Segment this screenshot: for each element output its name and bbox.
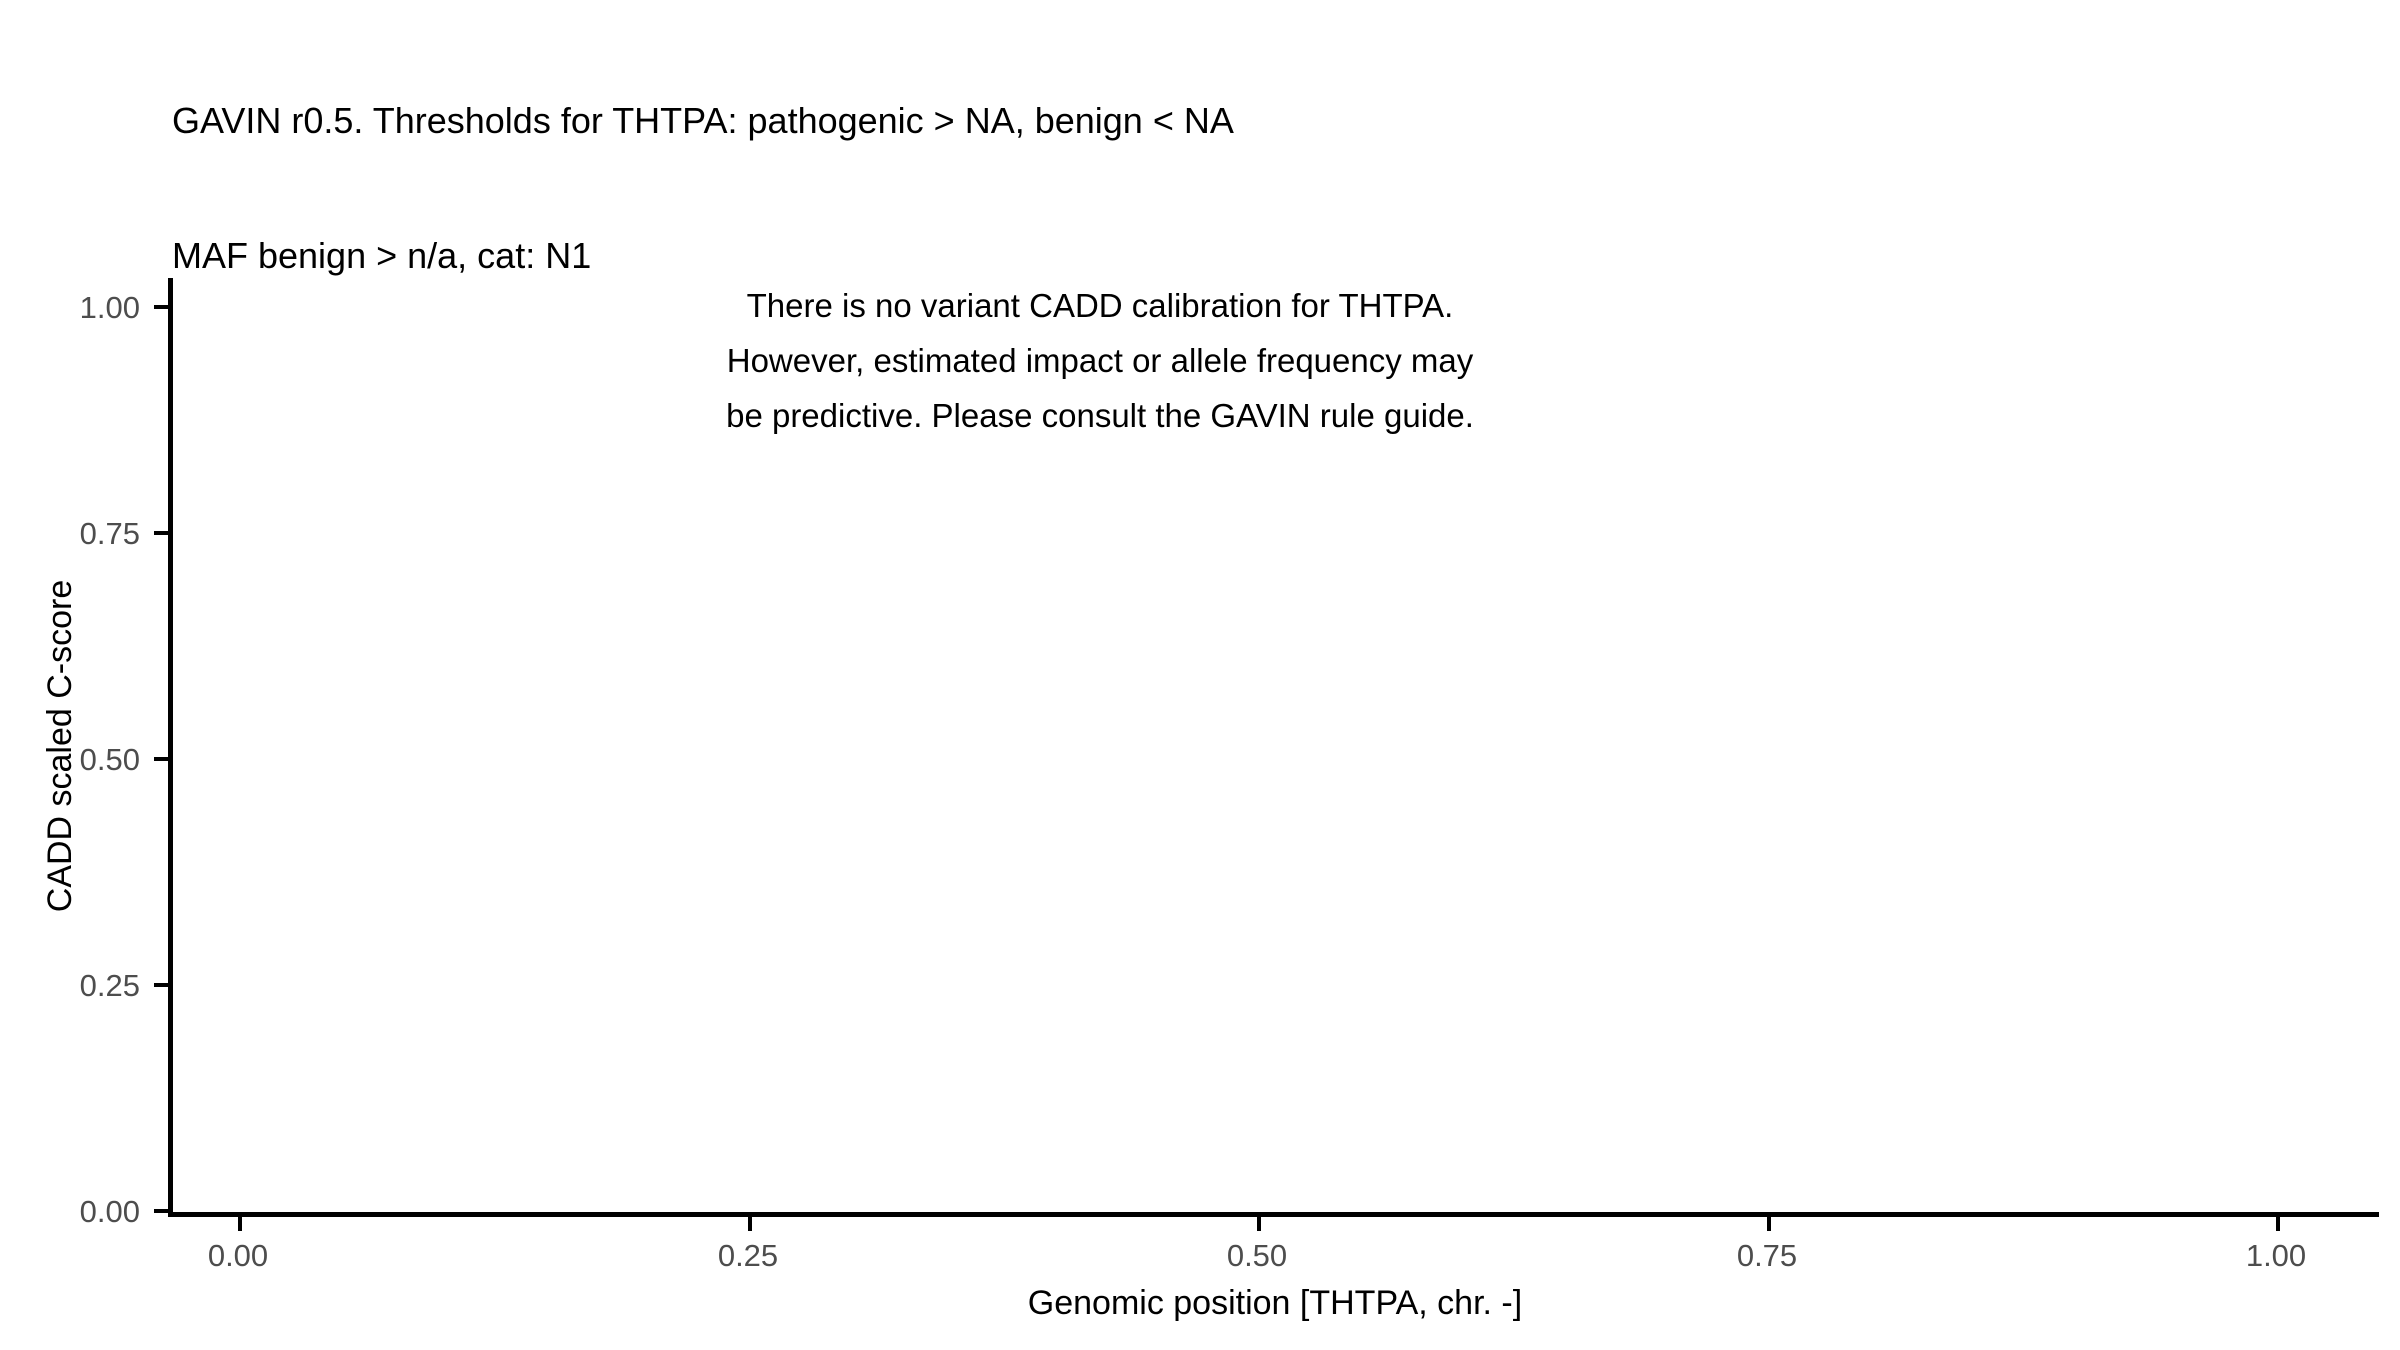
y-axis-tick-mark: [154, 983, 168, 987]
y-axis-tick-mark: [154, 757, 168, 761]
x-axis-tick-label: 0.75: [1667, 1240, 1867, 1271]
y-axis-title: CADD scaled C-score: [40, 278, 80, 1214]
x-axis-tick-mark: [748, 1217, 752, 1231]
x-axis-tick-label: 0.50: [1157, 1240, 1357, 1271]
x-axis-line: [168, 1212, 2379, 1217]
annotation-line-3: be predictive. Please consult the GAVIN …: [400, 388, 1800, 443]
x-axis-tick-mark: [1257, 1217, 1261, 1231]
annotation-line-1: There is no variant CADD calibration for…: [400, 278, 1800, 333]
x-axis-tick-label: 0.25: [648, 1240, 848, 1271]
x-axis-title: Genomic position [THTPA, chr. -]: [171, 1283, 2379, 1323]
plot-title-line-2: MAF benign > n/a, cat: N1: [172, 233, 2172, 278]
x-axis-tick-mark: [1767, 1217, 1771, 1231]
plot-title-line-1: GAVIN r0.5. Thresholds for THTPA: pathog…: [172, 98, 2172, 143]
plot-panel: There is no variant CADD calibration for…: [171, 278, 2379, 1214]
plot-canvas: GAVIN r0.5. Thresholds for THTPA: pathog…: [0, 0, 2400, 1350]
x-axis-tick-mark: [238, 1217, 242, 1231]
y-axis-line: [168, 278, 173, 1217]
x-axis-tick-mark: [2276, 1217, 2280, 1231]
y-axis-tick-mark: [154, 531, 168, 535]
empty-panel-annotation: There is no variant CADD calibration for…: [400, 278, 1800, 443]
y-axis-tick-mark: [154, 1209, 168, 1213]
y-axis-tick-mark: [154, 305, 168, 309]
annotation-line-2: However, estimated impact or allele freq…: [400, 333, 1800, 388]
x-axis-tick-label: 0.00: [138, 1240, 338, 1271]
x-axis-tick-label: 1.00: [2176, 1240, 2376, 1271]
